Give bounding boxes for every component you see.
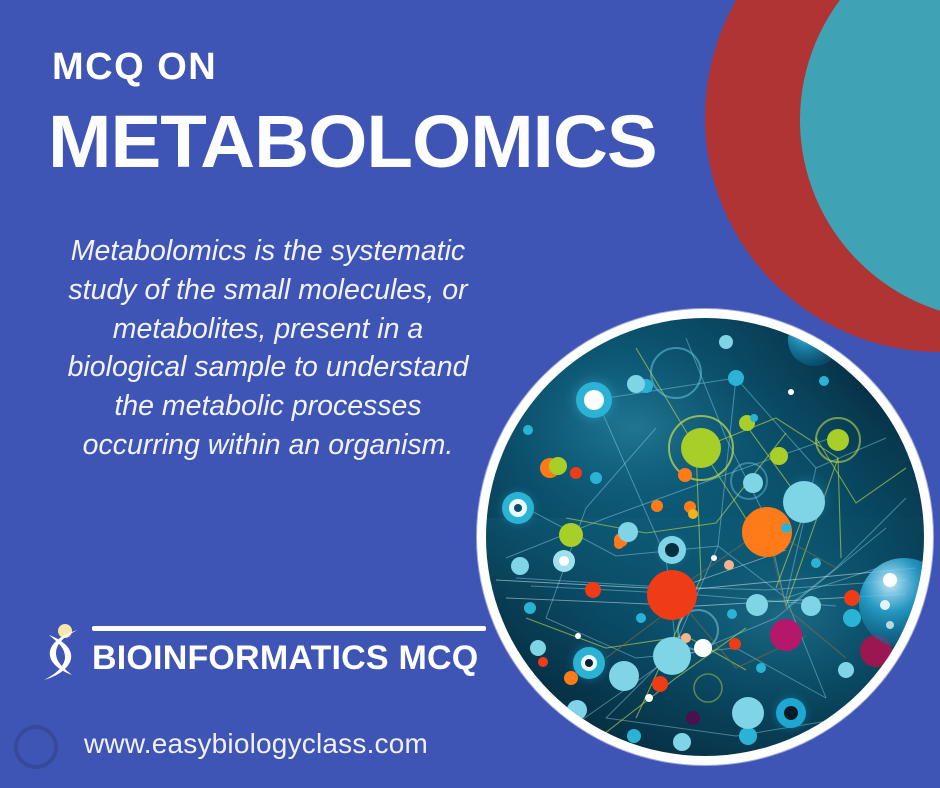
description-text: Metabolomics is the systematic study of … xyxy=(58,232,478,465)
dna-human-figure-glyph xyxy=(34,622,86,684)
page-title: METABOLOMICS xyxy=(48,105,657,179)
brand-name: BIOINFORMATICS MCQ xyxy=(92,641,486,675)
website-url[interactable]: www.easybiologyclass.com xyxy=(84,728,428,760)
brand-divider xyxy=(92,626,486,631)
eyebrow-label: MCQ ON xyxy=(52,48,217,86)
brand-texts: BIOINFORMATICS MCQ xyxy=(92,622,486,675)
poster-canvas: MCQ ON METABOLOMICS Metabolomics is the … xyxy=(0,0,940,788)
dna-human-figure-icon xyxy=(34,622,86,684)
metabolic-network-canvas xyxy=(486,318,924,756)
network-graphic xyxy=(486,318,924,756)
brand-row: BIOINFORMATICS MCQ xyxy=(34,622,486,684)
brand-block: BIOINFORMATICS MCQ xyxy=(34,622,486,684)
outline-ring-shape xyxy=(14,725,58,769)
metabolic-network-image xyxy=(477,309,933,765)
